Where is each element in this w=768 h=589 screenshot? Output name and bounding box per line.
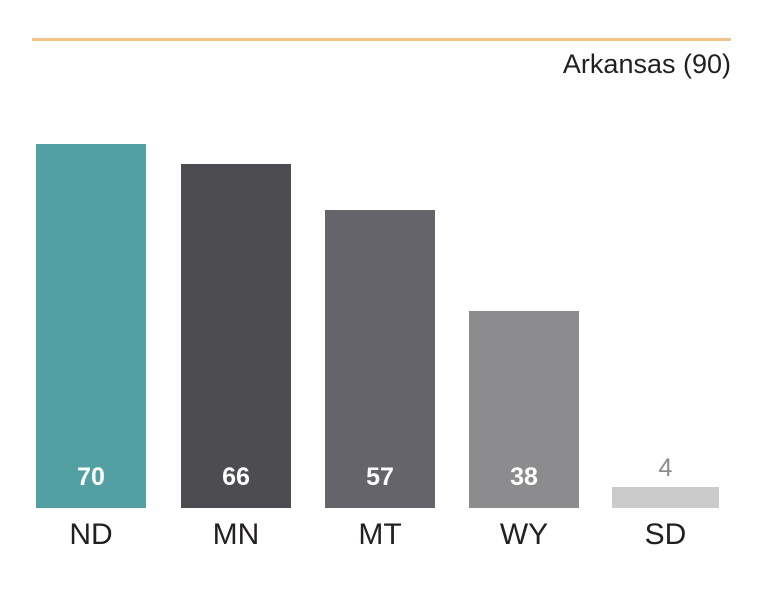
bar-nd[interactable]: 70	[36, 144, 146, 508]
bar-value-sd: 4	[612, 456, 719, 481]
category-label-nd: ND	[36, 519, 146, 551]
bar-group-mt[interactable]: 57 MT	[325, 108, 435, 508]
bar-group-mn[interactable]: 66 MN	[181, 108, 291, 508]
bar-value-mn: 66	[181, 465, 291, 490]
bar-mt[interactable]: 57	[325, 210, 435, 508]
bar-group-sd[interactable]: 4 SD	[612, 108, 719, 508]
category-label-sd: SD	[612, 519, 719, 551]
bar-chart: 70 ND 66 MN 57 MT 38 WY 4	[0, 0, 768, 589]
bar-value-wy: 38	[469, 465, 579, 490]
bar-group-wy[interactable]: 38 WY	[469, 108, 579, 508]
bar-group-nd[interactable]: 70 ND	[36, 108, 146, 508]
category-label-mt: MT	[325, 519, 435, 551]
slide-canvas: Arkansas (90) 70 ND 66 MN 57 MT 38	[0, 0, 768, 589]
bar-value-mt: 57	[325, 465, 435, 490]
bar-sd[interactable]	[612, 487, 719, 508]
bar-value-nd: 70	[36, 465, 146, 490]
category-label-wy: WY	[469, 519, 579, 551]
bar-mn[interactable]: 66	[181, 164, 291, 508]
category-label-mn: MN	[181, 519, 291, 551]
bar-wy[interactable]: 38	[469, 311, 579, 508]
